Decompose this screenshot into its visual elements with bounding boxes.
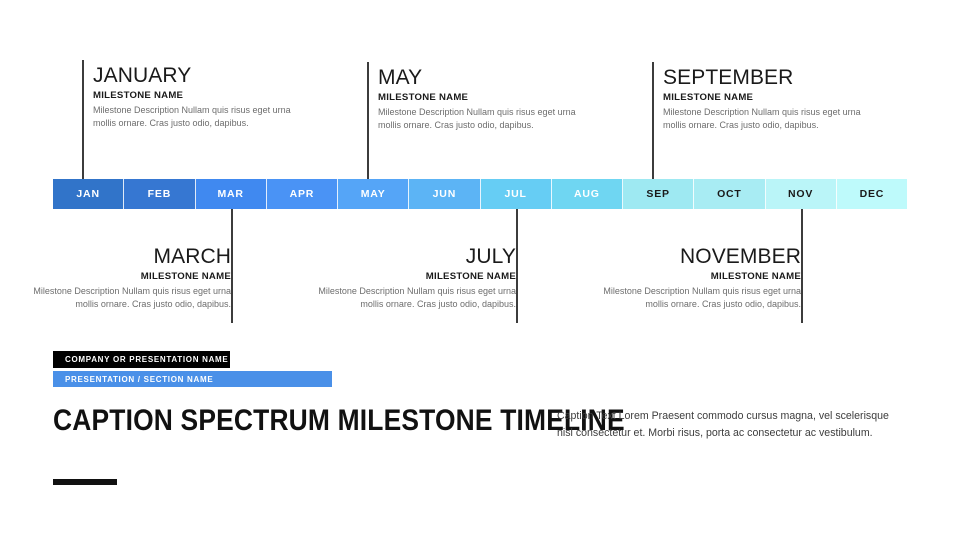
month-cell-feb[interactable]: FEB — [124, 179, 195, 209]
milestone-name-label: MILESTONE NAME — [663, 92, 868, 103]
month-cell-mar[interactable]: MAR — [196, 179, 267, 209]
page-title: CAPTION SPECTRUM MILESTONE TIMELINE — [53, 403, 625, 438]
milestone-january: JANUARY MILESTONE NAME Milestone Descrip… — [82, 64, 298, 131]
month-cell-jan[interactable]: JAN — [53, 179, 124, 209]
month-cell-jul[interactable]: JUL — [481, 179, 552, 209]
month-cell-may[interactable]: MAY — [338, 179, 409, 209]
milestone-september: SEPTEMBER MILESTONE NAME Milestone Descr… — [652, 66, 868, 133]
connector-line-january — [82, 60, 84, 179]
milestone-july: JULY MILESTONE NAME Milestone Descriptio… — [311, 245, 527, 312]
milestone-description: Milestone Description Nullam quis risus … — [26, 285, 231, 312]
milestone-name-label: MILESTONE NAME — [93, 90, 298, 101]
milestone-month-label: MARCH — [26, 245, 231, 269]
connector-line-may — [367, 62, 369, 179]
milestone-name-label: MILESTONE NAME — [378, 92, 583, 103]
milestone-month-label: SEPTEMBER — [663, 66, 868, 90]
milestone-name-label: MILESTONE NAME — [596, 271, 801, 282]
milestone-may: MAY MILESTONE NAME Milestone Description… — [367, 66, 583, 133]
milestone-march: MARCH MILESTONE NAME Milestone Descripti… — [26, 245, 242, 312]
month-cell-apr[interactable]: APR — [267, 179, 338, 209]
milestone-name-label: MILESTONE NAME — [311, 271, 516, 282]
timeline-month-bar: JAN FEB MAR APR MAY JUN JUL AUG SEP OCT … — [53, 179, 907, 209]
milestone-name-label: MILESTONE NAME — [26, 271, 231, 282]
slide-canvas: JANUARY MILESTONE NAME Milestone Descrip… — [0, 0, 960, 540]
milestone-description: Milestone Description Nullam quis risus … — [311, 285, 516, 312]
month-cell-aug[interactable]: AUG — [552, 179, 623, 209]
section-name-badge: PRESENTATION / SECTION NAME — [53, 371, 332, 387]
connector-line-september — [652, 62, 654, 179]
milestone-description: Milestone Description Nullam quis risus … — [93, 104, 298, 131]
company-name-badge: COMPANY OR PRESENTATION NAME — [53, 351, 230, 368]
milestone-description: Milestone Description Nullam quis risus … — [596, 285, 801, 312]
milestone-month-label: JULY — [311, 245, 516, 269]
bottom-divider-rule — [53, 479, 117, 485]
milestone-november: NOVEMBER MILESTONE NAME Milestone Descri… — [596, 245, 812, 312]
month-cell-sep[interactable]: SEP — [623, 179, 694, 209]
milestone-month-label: MAY — [378, 66, 583, 90]
milestone-description: Milestone Description Nullam quis risus … — [663, 106, 868, 133]
month-cell-nov[interactable]: NOV — [766, 179, 837, 209]
milestone-month-label: NOVEMBER — [596, 245, 801, 269]
month-cell-dec[interactable]: DEC — [837, 179, 907, 209]
month-cell-jun[interactable]: JUN — [409, 179, 480, 209]
milestone-description: Milestone Description Nullam quis risus … — [378, 106, 583, 133]
caption-body-text: Caption Text Lorem Praesent commodo curs… — [557, 408, 907, 442]
month-cell-oct[interactable]: OCT — [694, 179, 765, 209]
milestone-month-label: JANUARY — [93, 64, 298, 88]
